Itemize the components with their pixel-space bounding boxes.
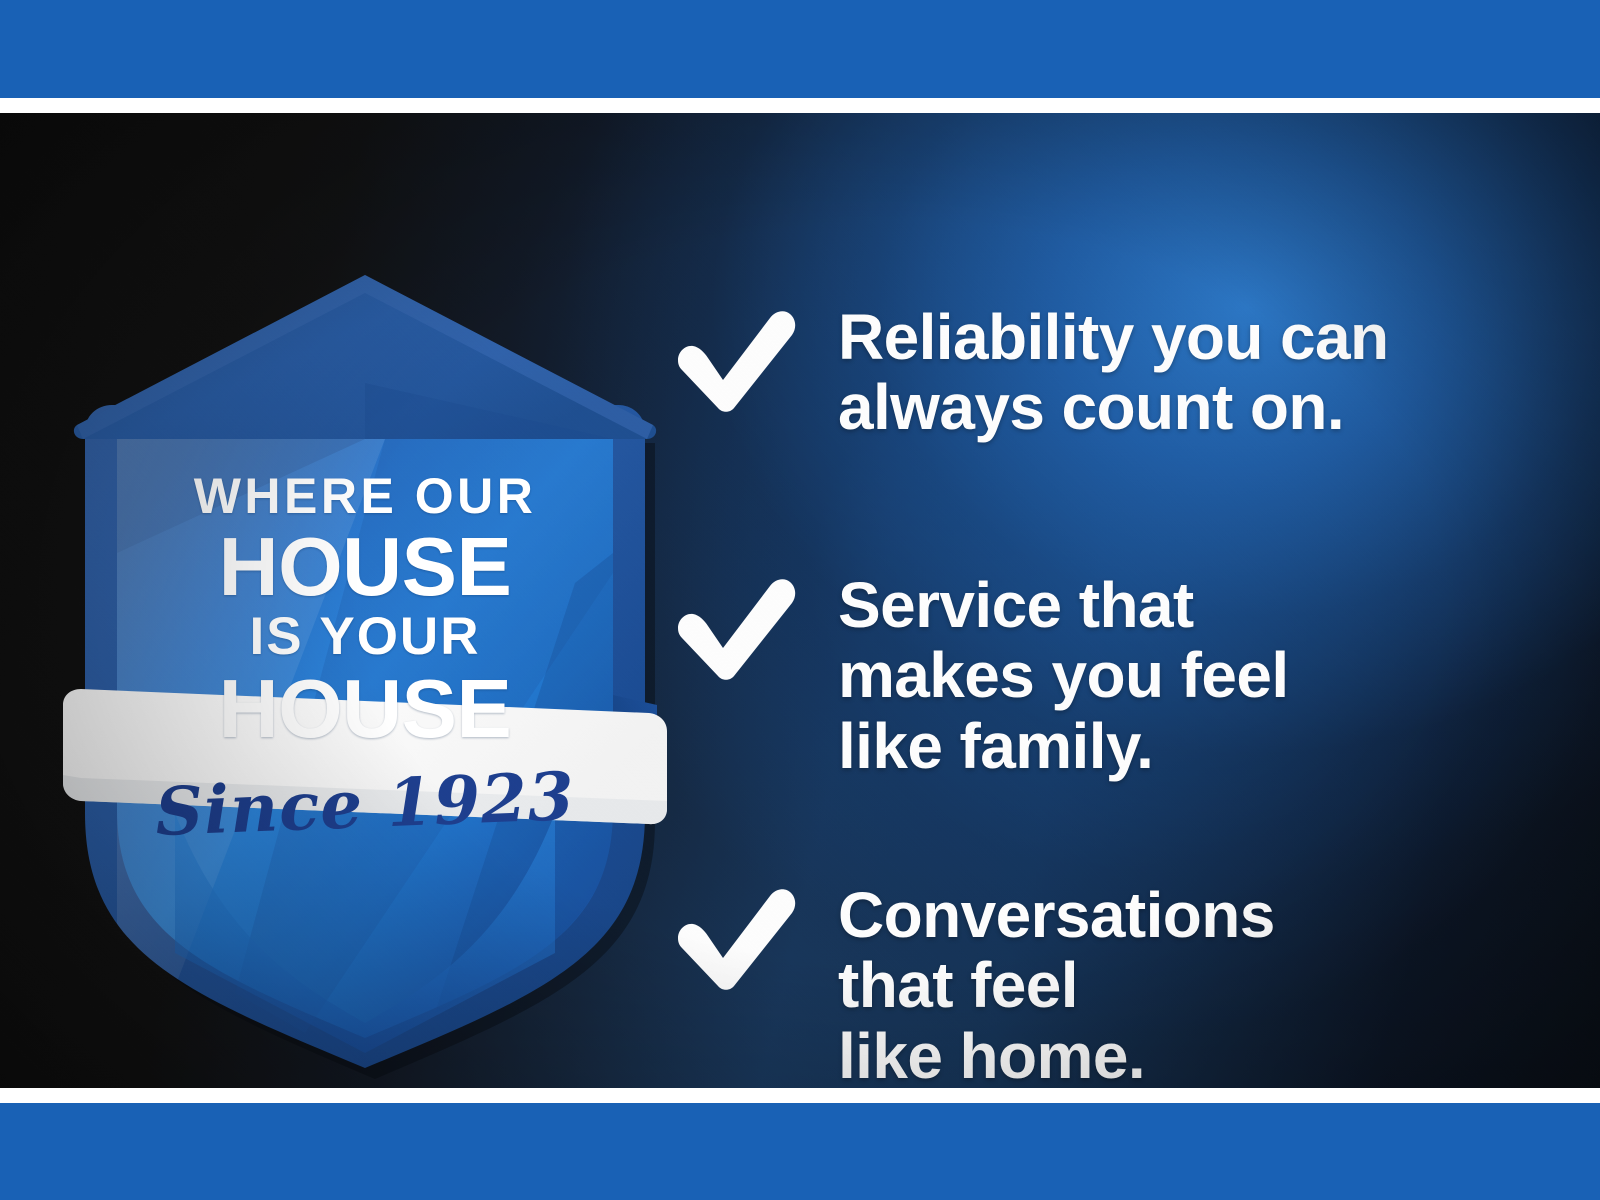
badge-line-house-1: HOUSE xyxy=(55,525,675,608)
shield-badge: WHERE OUR HOUSE IS YOUR HOUSE Since 1923 xyxy=(55,253,675,1063)
list-item-line: Service that xyxy=(838,570,1548,640)
list-item-line: always count on. xyxy=(838,372,1548,442)
list-item-text: Reliability you can always count on. xyxy=(838,302,1548,443)
checkmark-icon xyxy=(668,308,800,413)
checkmark-icon xyxy=(668,886,800,991)
list-item-text: Conversations that feel like home. xyxy=(838,880,1548,1088)
list-item-line: Reliability you can xyxy=(838,302,1548,372)
list-item-line: like home. xyxy=(838,1021,1548,1088)
checkmark-icon xyxy=(668,576,800,681)
graphic-canvas: WHERE OUR HOUSE IS YOUR HOUSE Since 1923… xyxy=(0,0,1600,1200)
list-item-line: like family. xyxy=(838,711,1548,781)
list-item-line: that feel xyxy=(838,950,1548,1020)
badge-line-is-your: IS YOUR xyxy=(55,610,675,663)
list-item-line: Conversations xyxy=(838,880,1548,950)
badge-line-house-2: HOUSE xyxy=(55,667,675,750)
badge-line-where-our: WHERE OUR xyxy=(55,471,675,521)
main-panel: WHERE OUR HOUSE IS YOUR HOUSE Since 1923… xyxy=(0,113,1600,1088)
list-item-text: Service that makes you feel like family. xyxy=(838,570,1548,781)
bottom-accent-bar xyxy=(0,1103,1600,1200)
list-item-line: makes you feel xyxy=(838,640,1548,710)
top-accent-bar xyxy=(0,0,1600,98)
